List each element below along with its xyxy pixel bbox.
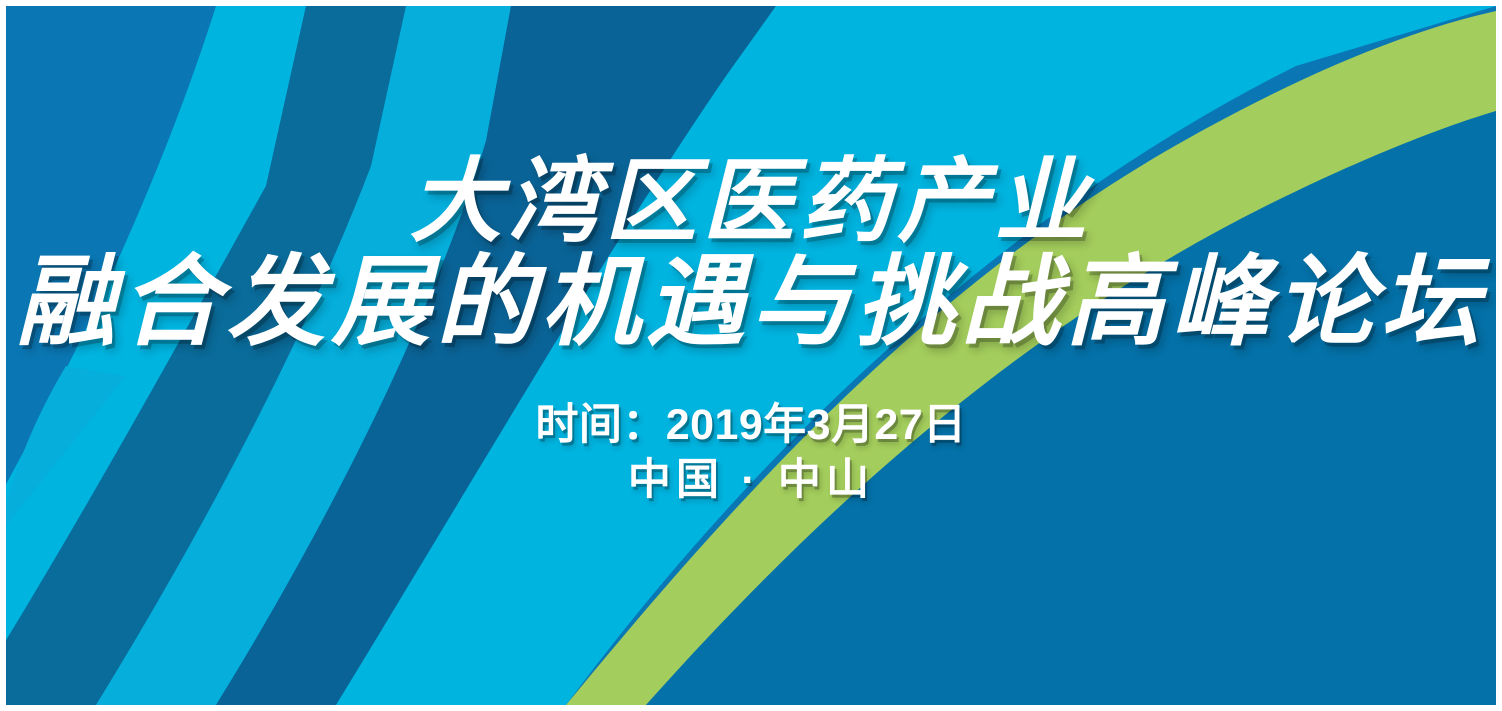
- event-banner: 大湾区医药产业 融合发展的机遇与挑战高峰论坛 时间：2019年3月27日 中国 …: [0, 0, 1502, 711]
- background-stripes-overlay: [6, 6, 1496, 705]
- banner-artboard: 大湾区医药产业 融合发展的机遇与挑战高峰论坛 时间：2019年3月27日 中国 …: [6, 6, 1496, 705]
